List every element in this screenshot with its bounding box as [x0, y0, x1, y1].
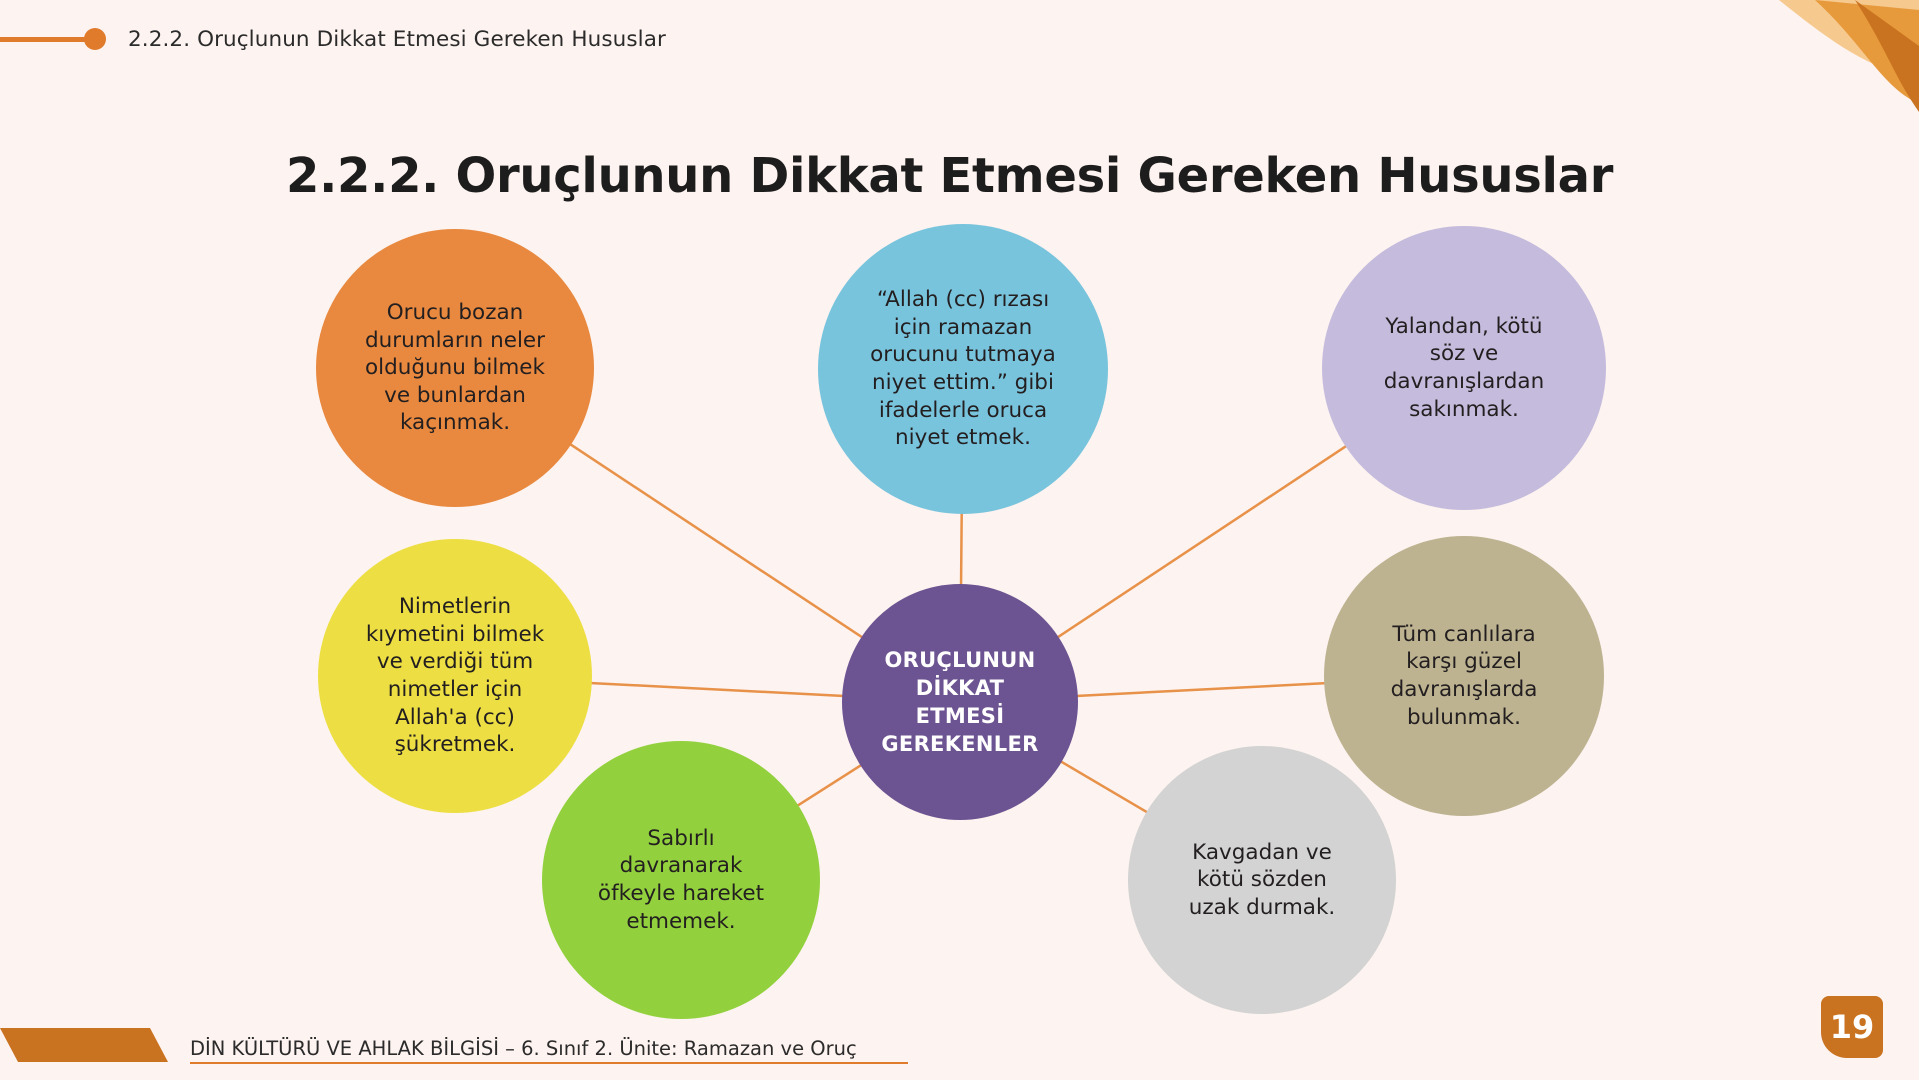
- connector-tum-canlilara: [1076, 683, 1326, 696]
- footer-label: DİN KÜLTÜRÜ VE AHLAK BİLGİSİ – 6. Sınıf …: [190, 1037, 857, 1060]
- slide: 2.2.2. Oruçlunun Dikkat Etmesi Gereken H…: [0, 0, 1919, 1080]
- page-number: 19: [1830, 1008, 1875, 1046]
- connector-orucu-bozan: [569, 444, 863, 638]
- node-center[interactable]: ORUÇLUNUN DİKKAT ETMESİ GEREKENLER: [842, 584, 1078, 820]
- node-label: Nimetlerin kıymetini bilmek ve verdiği t…: [352, 593, 558, 758]
- node-nimetlerin-kiymeti[interactable]: Nimetlerin kıymetini bilmek ve verdiği t…: [318, 539, 592, 813]
- node-label: Kavgadan ve kötü sözden uzak durmak.: [1175, 839, 1350, 922]
- connector-lines: [0, 0, 1919, 1080]
- node-tum-canlilara[interactable]: Tüm canlılara karşı güzel davranışlarda …: [1324, 536, 1604, 816]
- node-kavgadan-uzak[interactable]: Kavgadan ve kötü sözden uzak durmak.: [1128, 746, 1396, 1014]
- footer-underline: [190, 1062, 908, 1064]
- node-center-label: ORUÇLUNUN DİKKAT ETMESİ GEREKENLER: [867, 646, 1052, 759]
- node-label: Tüm canlılara karşı güzel davranışlarda …: [1377, 621, 1552, 731]
- node-sabirli-davranmak[interactable]: Sabırlı davranarak öfkeyle hareket etmem…: [542, 741, 820, 1019]
- connector-kavgadan-uzak: [1060, 761, 1148, 813]
- mindmap-diagram: Orucu bozan durumların neler olduğunu bi…: [0, 0, 1919, 1080]
- node-label: Sabırlı davranarak öfkeyle hareket etmem…: [584, 825, 778, 935]
- connector-sabirli-davranmak: [796, 764, 862, 806]
- connector-niyet-etmek: [961, 512, 962, 586]
- connector-nimetlerin-kiymeti: [590, 683, 844, 696]
- node-orucu-bozan[interactable]: Orucu bozan durumların neler olduğunu bi…: [316, 229, 594, 507]
- node-label: Orucu bozan durumların neler olduğunu bi…: [351, 299, 559, 437]
- page-number-badge: 19: [1821, 996, 1883, 1058]
- node-niyet-etmek[interactable]: “Allah (cc) rızası için ramazan orucunu …: [818, 224, 1108, 514]
- footer-decoration: [0, 1028, 168, 1062]
- node-label: Yalandan, kötü söz ve davranışlardan sak…: [1370, 313, 1558, 423]
- node-yalandan-sakinmak[interactable]: Yalandan, kötü söz ve davranışlardan sak…: [1322, 226, 1606, 510]
- node-label: “Allah (cc) rızası için ramazan orucunu …: [856, 286, 1070, 451]
- connector-yalandan-sakinmak: [1057, 445, 1348, 638]
